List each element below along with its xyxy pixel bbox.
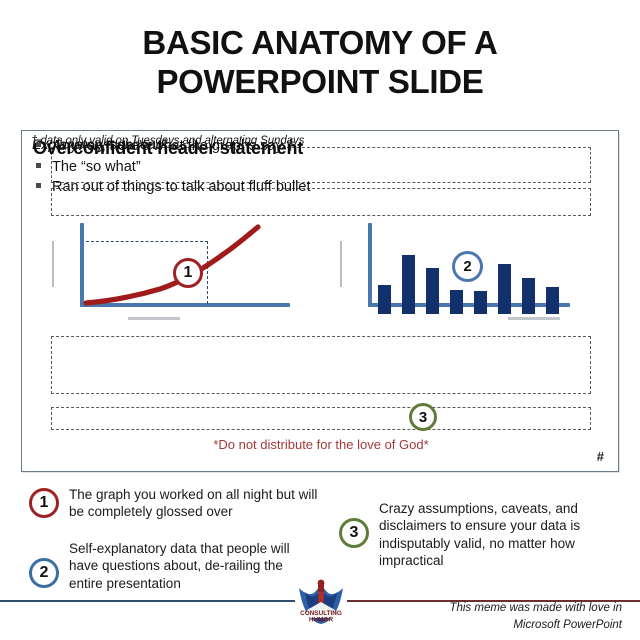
slide-disclaimer: *Do not distribute for the love of God* [22,437,620,452]
bar [546,287,559,314]
bar [474,291,487,314]
x-axis-label-stub [128,317,180,320]
bar [450,290,463,314]
y-axis-line [368,223,372,307]
logo-text-line-2: HUMOR [309,617,334,624]
legend-text-3: Crazy assumptions, caveats, and disclaim… [379,500,611,569]
legend-item-1: 1 The graph you worked on all night but … [29,486,319,521]
bar [522,278,535,314]
slide-bullet-item: The “so what” [36,158,311,178]
meme-page: BASIC ANATOMY OF A POWERPOINT SLIDE Over… [0,0,640,640]
consulting-humor-logo: CONSULTING HUMOR [293,572,349,628]
legend-number-3: 3 [339,518,369,548]
legend-number-2: 2 [29,558,59,588]
slide-bullet-text: The “so what” [52,158,141,178]
y-axis-label-stub [340,241,342,287]
bullet-square-icon [36,163,41,168]
right-bar-chart: 2 [340,223,595,318]
callout-marker-1: 1 [173,258,203,288]
slide-page-number: # [597,449,604,464]
bar [426,268,439,314]
left-line-chart: 1 [52,223,307,318]
legend-text-1: The graph you worked on all night but wi… [69,486,319,521]
bullet-square-icon [36,183,41,188]
slide-footnote-placeholder [51,407,591,430]
slide-bullet-item: Ran out of things to talk about fluff bu… [36,178,311,198]
credit-text: This meme was made with love in Microsof… [362,600,622,633]
x-axis-label-stub [508,317,560,320]
bar [402,255,415,314]
legend-item-3: 3 Crazy assumptions, caveats, and discla… [339,500,611,569]
credit-line-2: Microsoft PowerPoint [362,617,622,634]
page-title-line-2: POWERPOINT SLIDE [0,63,640,102]
page-title: BASIC ANATOMY OF A POWERPOINT SLIDE [0,24,640,102]
credit-line-1: This meme was made with love in [362,600,622,617]
slide-footnote: † data only valid on Tuesdays and altern… [31,135,304,147]
callout-marker-2: 2 [452,251,483,282]
legend-text-2: Self-explanatory data that people will h… [69,540,319,592]
y-axis-label-stub [52,241,54,287]
slide-bullet-text: Ran out of things to talk about fluff bu… [52,178,311,198]
page-title-line-1: BASIC ANATOMY OF A [0,24,640,63]
legend-item-2: 2 Self-explanatory data that people will… [29,540,319,592]
bar [378,285,391,314]
bar [498,264,511,314]
callout-marker-3: 3 [409,403,437,431]
powerpoint-slide: Overconfident header statement Explanato… [21,130,619,472]
legend-number-1: 1 [29,488,59,518]
x-axis-line [368,303,570,307]
slide-bullets-placeholder [51,336,591,394]
